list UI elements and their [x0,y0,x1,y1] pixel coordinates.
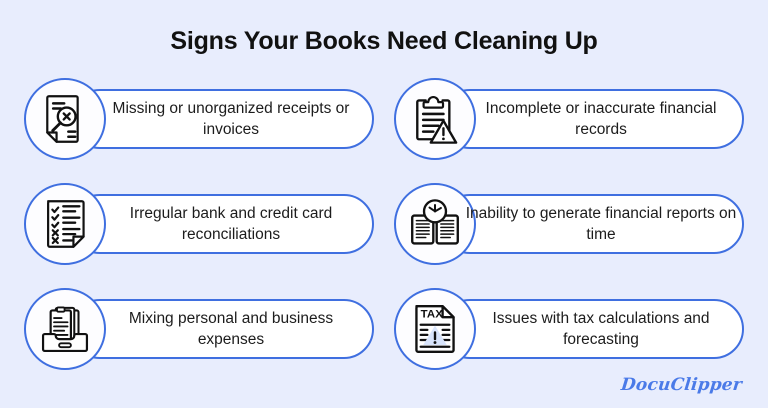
page-title: Signs Your Books Need Cleaning Up [0,26,768,56]
document-magnifier-x-icon [38,92,92,146]
cards-grid: Missing or unorganized receipts or invoi… [0,78,768,368]
brand-logo: DocuClipper [620,375,743,395]
card-label: Irregular bank and credit card reconcili… [88,194,374,254]
card-label: Incomplete or inaccurate financial recor… [458,89,744,149]
card-mixing-expenses[interactable]: Mixing personal and business expenses [24,288,374,370]
documents-tray-icon [38,302,92,356]
open-book-clock-icon [408,197,462,251]
card-missing-receipts[interactable]: Missing or unorganized receipts or invoi… [24,78,374,160]
card-reports-on-time[interactable]: Inability to generate financial reports … [394,183,744,265]
card-tax-issues[interactable]: Issues with tax calculations and forecas… [394,288,744,370]
infographic-canvas: Signs Your Books Need Cleaning Up Missin… [0,0,768,408]
tax-document-warning-icon: TAX [408,302,462,356]
card-label: Missing or unorganized receipts or invoi… [88,89,374,149]
card-label: Issues with tax calculations and forecas… [458,299,744,359]
checklist-document-icon [38,197,92,251]
card-label: Inability to generate financial reports … [458,194,744,254]
card-irregular-reconciliations[interactable]: Irregular bank and credit card reconcili… [24,183,374,265]
card-label: Mixing personal and business expenses [88,299,374,359]
svg-text:TAX: TAX [421,309,444,321]
card-incomplete-records[interactable]: Incomplete or inaccurate financial recor… [394,78,744,160]
clipboard-warning-icon [408,92,462,146]
